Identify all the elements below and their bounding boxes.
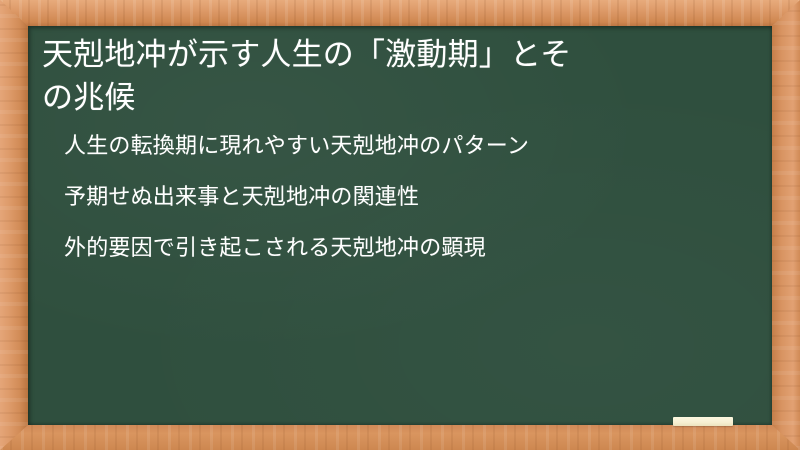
chalk-stick: [673, 417, 733, 426]
slide-title-line-2: の兆候: [42, 80, 136, 116]
list-item: 予期せぬ出来事と天剋地冲の関連性: [64, 187, 758, 209]
frame-plank-bottom: [0, 425, 800, 450]
slide-title-line-1: 天剋地冲が示す人生の「激動期」とそ: [42, 37, 571, 73]
list-item: 人生の転換期に現れやすい天剋地冲のパターン: [64, 136, 758, 158]
slide-title: 天剋地冲が示す人生の「激動期」とそ の兆候: [42, 34, 742, 120]
chalkboard-surface: 天剋地冲が示す人生の「激動期」とそ の兆候 人生の転換期に現れやすい天剋地冲のパ…: [28, 26, 772, 425]
frame-plank-top: [0, 0, 800, 26]
frame-plank-left: [0, 0, 28, 450]
frame-plank-right: [772, 0, 800, 450]
chalkboard-slide: 天剋地冲が示す人生の「激動期」とそ の兆候 人生の転換期に現れやすい天剋地冲のパ…: [0, 0, 800, 450]
list-item: 外的要因で引き起こされる天剋地冲の顕現: [64, 238, 758, 260]
board-content: 天剋地冲が示す人生の「激動期」とそ の兆候 人生の転換期に現れやすい天剋地冲のパ…: [28, 26, 772, 260]
bullet-list: 人生の転換期に現れやすい天剋地冲のパターン 予期せぬ出来事と天剋地冲の関連性 外…: [42, 136, 758, 260]
